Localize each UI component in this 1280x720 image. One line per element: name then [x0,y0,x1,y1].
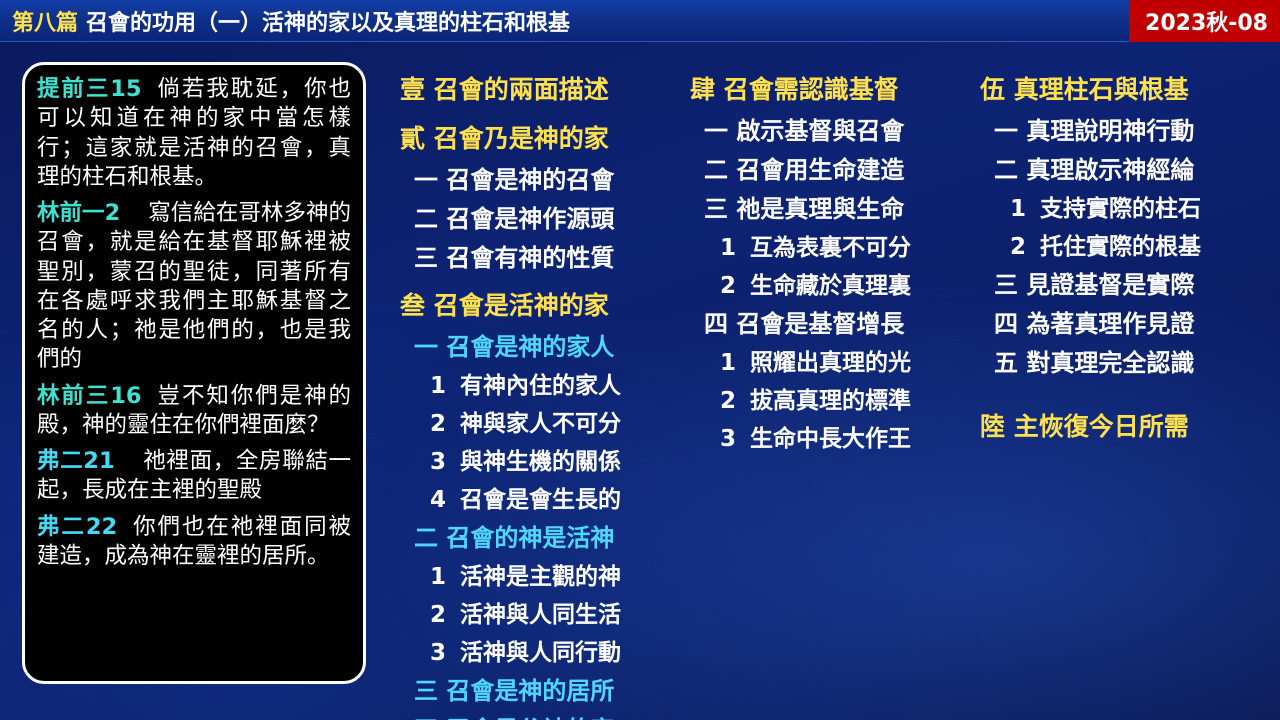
outline-item-l2: 2 生命藏於真理裏 [720,266,960,300]
outline-item-number: 二 [704,150,728,185]
outline-item-l1: 四 召會是父神的家 [414,710,650,720]
outline-item-number: 四 [414,710,438,720]
outline-item-label: 生命中長大作王 [742,426,911,452]
outline-item-label: 召會的兩面描述 [425,75,609,104]
outline-item-number: 伍 [980,70,1005,106]
outline-item-l1: 三 召會有神的性質 [414,238,650,273]
outline-item-l1: 三 召會是神的居所 [414,671,650,706]
outline-item-number: 二 [414,199,438,234]
outline-item-number: 五 [994,343,1018,378]
outline-item-l2: 1 有神內住的家人 [430,366,650,400]
outline-item-label: 召會是神的召會 [438,166,614,194]
verse-block: 弗二21祂裡面，全房聯結一起，長成在主裡的聖殿 [37,447,351,506]
outline-item-number: 3 [430,640,452,666]
outline-item-number: 三 [994,265,1018,300]
outline-item-l1: 一 召會是神的家人 [414,327,650,362]
outline-item-label: 召會是父神的家 [438,716,614,720]
outline-item-label: 召會乃是神的家 [425,124,609,153]
outline-item-label: 活神與人同行動 [452,640,621,666]
outline-item-number: 一 [414,160,438,195]
outline-item-label: 拔高真理的標準 [742,388,911,414]
verse-block: 弗二22你們也在祂裡面同被建造，成為神在靈裡的居所。 [37,513,351,572]
outline-item-l1: 二 真理啟示神經綸 [994,150,1255,185]
outline-item-label: 召會是活神的家 [425,291,609,320]
verse-reference: 弗二21 [37,448,115,474]
outline-item-l0: 肆 召會需認識基督 [690,70,960,106]
outline-item-number: 四 [704,304,728,339]
outline-item-label: 真理柱石與根基 [1005,75,1189,104]
term-badge: 2023秋-08 [1129,0,1280,42]
outline-item-number: 陸 [980,407,1005,443]
outline-item-number: 一 [704,111,728,146]
outline-column-3: 伍 真理柱石與根基一 真理說明神行動二 真理啟示神經綸1 支持實際的柱石2 托住… [980,70,1255,448]
outline-item-label: 活神與人同生活 [452,602,621,628]
verse-panel: 提前三15倘若我耽延，你也可以知道在神的家中當怎樣行；這家就是活神的召會，真理的… [22,62,366,684]
outline-item-l0: 叁 召會是活神的家 [400,286,650,322]
outline-item-l2: 3 活神與人同行動 [430,633,650,667]
outline-item-label: 活神是主觀的神 [452,564,621,590]
outline-item-label: 見證基督是實際 [1018,271,1194,299]
outline-item-l0: 壹 召會的兩面描述 [400,70,650,106]
background-swoosh-2 [241,414,1280,720]
outline-item-number: 三 [414,238,438,273]
outline-item-l1: 四 召會是基督增長 [704,304,960,339]
outline-item-number: 一 [414,327,438,362]
verse-reference: 林前一2 [37,200,120,226]
verse-reference: 弗二22 [37,514,117,540]
outline-item-label: 啟示基督與召會 [728,117,904,145]
outline-item-l1: 二 召會是神作源頭 [414,199,650,234]
outline-item-number: 1 [720,350,742,376]
outline-item-label: 真理啟示神經綸 [1018,156,1194,184]
outline-item-label: 為著真理作見證 [1018,310,1194,338]
verse-block: 提前三15倘若我耽延，你也可以知道在神的家中當怎樣行；這家就是活神的召會，真理的… [37,75,351,192]
outline-item-number: 叁 [400,286,425,322]
outline-item-label: 支持實際的柱石 [1032,196,1201,222]
outline-item-number: 2 [1010,234,1032,260]
outline-item-number: 1 [1010,196,1032,222]
outline-item-label: 生命藏於真理裏 [742,273,911,299]
verse-block: 林前一2寫信給在哥林多神的召會，就是給在基督耶穌裡被聖別，蒙召的聖徒，同著所有在… [37,199,351,375]
outline-item-number: 2 [720,273,742,299]
outline-item-number: 3 [430,449,452,475]
outline-item-number: 1 [430,564,452,590]
outline-item-number: 四 [994,304,1018,339]
outline-item-l1: 三 見證基督是實際 [994,265,1255,300]
outline-item-label: 互為表裏不可分 [742,235,911,261]
outline-column-1: 壹 召會的兩面描述貳 召會乃是神的家一 召會是神的召會二 召會是神作源頭三 召會… [400,70,650,720]
verse-reference: 林前三16 [37,383,142,409]
header-bar: 第八篇 召會的功用（一）活神的家以及真理的柱石和根基 2023秋-08 [0,0,1280,42]
outline-item-label: 對真理完全認識 [1018,349,1194,377]
outline-item-label: 有神內住的家人 [452,373,621,399]
outline-item-number: 三 [414,671,438,706]
outline-item-l1: 二 召會用生命建造 [704,150,960,185]
outline-item-label: 召會的神是活神 [438,524,614,552]
outline-item-number: 二 [414,518,438,553]
outline-item-label: 召會是神的居所 [438,677,614,705]
outline-item-label: 召會用生命建造 [728,156,904,184]
outline-item-l1: 一 真理說明神行動 [994,111,1255,146]
outline-item-number: 二 [994,150,1018,185]
outline-item-l2: 1 支持實際的柱石 [1010,189,1255,223]
outline-item-number: 壹 [400,70,425,106]
outline-item-number: 貳 [400,119,425,155]
outline-spacer [980,382,1255,394]
outline-item-label: 召會是會生長的 [452,487,621,513]
outline-item-label: 祂是真理與生命 [728,195,904,223]
outline-item-number: 2 [430,411,452,437]
outline-item-number: 2 [720,388,742,414]
outline-item-number: 3 [720,426,742,452]
outline-item-l0: 陸 主恢復今日所需 [980,407,1255,443]
outline-item-l2: 3 與神生機的關係 [430,442,650,476]
outline-item-label: 神與家人不可分 [452,411,621,437]
page-title: 召會的功用（一）活神的家以及真理的柱石和根基 [86,5,570,37]
outline-item-number: 4 [430,487,452,513]
outline-item-l0: 伍 真理柱石與根基 [980,70,1255,106]
outline-item-label: 主恢復今日所需 [1005,412,1189,441]
outline-item-label: 召會有神的性質 [438,244,614,272]
outline-item-l2: 2 托住實際的根基 [1010,227,1255,261]
outline-item-l0: 貳 召會乃是神的家 [400,119,650,155]
outline-item-l2: 3 生命中長大作王 [720,419,960,453]
outline-item-l2: 4 召會是會生長的 [430,480,650,514]
outline-item-l1: 五 對真理完全認識 [994,343,1255,378]
outline-item-l2: 1 照耀出真理的光 [720,343,960,377]
outline-item-label: 真理說明神行動 [1018,117,1194,145]
outline-item-label: 與神生機的關係 [452,449,621,475]
verse-block: 林前三16豈不知你們是神的殿，神的靈住在你們裡面麼？ [37,382,351,441]
outline-item-number: 三 [704,189,728,224]
outline-item-number: 2 [430,602,452,628]
outline-item-l1: 一 啟示基督與召會 [704,111,960,146]
outline-item-l1: 三 祂是真理與生命 [704,189,960,224]
outline-item-l2: 2 活神與人同生活 [430,595,650,629]
outline-item-l2: 1 活神是主觀的神 [430,557,650,591]
outline-item-l2: 1 互為表裏不可分 [720,228,960,262]
lesson-number: 第八篇 [12,5,78,37]
outline-item-label: 照耀出真理的光 [742,350,911,376]
outline-item-l2: 2 神與家人不可分 [430,404,650,438]
outline-item-l2: 2 拔高真理的標準 [720,381,960,415]
outline-item-l1: 四 為著真理作見證 [994,304,1255,339]
outline-item-label: 托住實際的根基 [1032,234,1201,260]
outline-item-label: 召會是神的家人 [438,333,614,361]
outline-item-l1: 二 召會的神是活神 [414,518,650,553]
outline-item-number: 一 [994,111,1018,146]
outline-item-l1: 一 召會是神的召會 [414,160,650,195]
outline-item-label: 召會是基督增長 [728,310,904,338]
outline-column-2: 肆 召會需認識基督一 啟示基督與召會二 召會用生命建造三 祂是真理與生命1 互為… [690,70,960,457]
outline-item-number: 肆 [690,70,715,106]
outline-item-number: 1 [720,235,742,261]
outline-item-label: 召會是神作源頭 [438,205,614,233]
outline-item-label: 召會需認識基督 [715,75,899,104]
verse-reference: 提前三15 [37,76,142,102]
outline-item-number: 1 [430,373,452,399]
